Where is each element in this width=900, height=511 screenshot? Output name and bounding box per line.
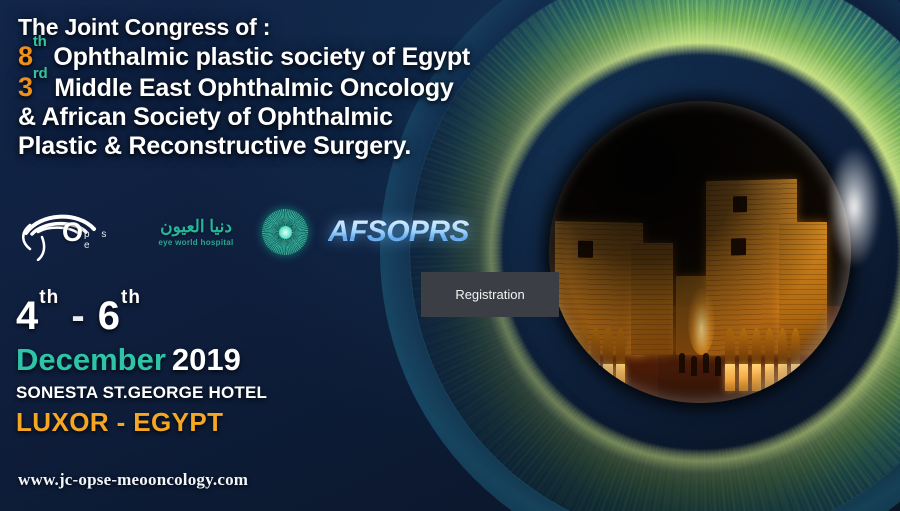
headline-line-3: 3rd Middle East Ophthalmic Oncology [18,72,578,103]
opse-mark-letter: O [62,217,83,248]
event-year: 2019 [172,342,241,377]
iris-core [279,226,292,239]
congress-headline: The Joint Congress of : 8th Ophthalmic p… [18,14,578,161]
event-venue: SONESTA ST.GEORGE HOTEL [16,383,267,403]
iris-circle-icon [262,209,308,255]
sponsor-logo-row: O p s e دنيا العيون eye world hospital A… [16,202,469,262]
event-days: 4th - 6th [16,296,267,336]
event-date-block: 4th - 6th December2019 SONESTA ST.GEORGE… [16,296,267,438]
headline-line-4: & African Society of Ophthalmic [18,103,578,132]
registration-label: Registration [455,287,524,302]
lit-plinth [566,364,575,391]
afsoprs-logo: AFSOPRS [328,215,469,249]
opse-logo: O p s e [16,203,124,261]
headline-line-5: Plastic & Reconstructive Surgery. [18,132,578,161]
ordinal-3rd: 3rd [18,72,47,102]
registration-button[interactable]: Registration [421,272,559,317]
eye-world-arabic-name: دنيا العيون [140,218,252,235]
pupil-rim-light [549,101,851,403]
event-month: December [16,342,166,377]
lit-plinth [554,364,563,391]
eye-world-hospital-logo: دنيا العيون eye world hospital [140,218,252,247]
headline-line-2: 8th Ophthalmic plastic society of Egypt [18,41,578,72]
headline-line-1: The Joint Congress of : [18,14,578,41]
headline-line-3-text: Middle East Ophthalmic Oncology [54,74,453,102]
headline-line-2-text: Ophthalmic plastic society of Egypt [53,43,470,71]
opse-wordmark: p s e [84,229,124,251]
event-month-year: December2019 [16,344,267,375]
lit-plinth [579,364,588,391]
lit-plinth [591,364,600,391]
event-website-url[interactable]: www.jc-opse-meooncology.com [18,470,248,490]
sphinx-statue [554,328,563,367]
poster-text-content: The Joint Congress of : 8th Ophthalmic p… [0,0,520,511]
eye-world-english-name: eye world hospital [140,238,252,247]
pupil-specular-glare [828,147,880,267]
event-city: LUXOR - EGYPT [16,407,267,438]
conference-banner: The Joint Congress of : 8th Ophthalmic p… [0,0,900,511]
